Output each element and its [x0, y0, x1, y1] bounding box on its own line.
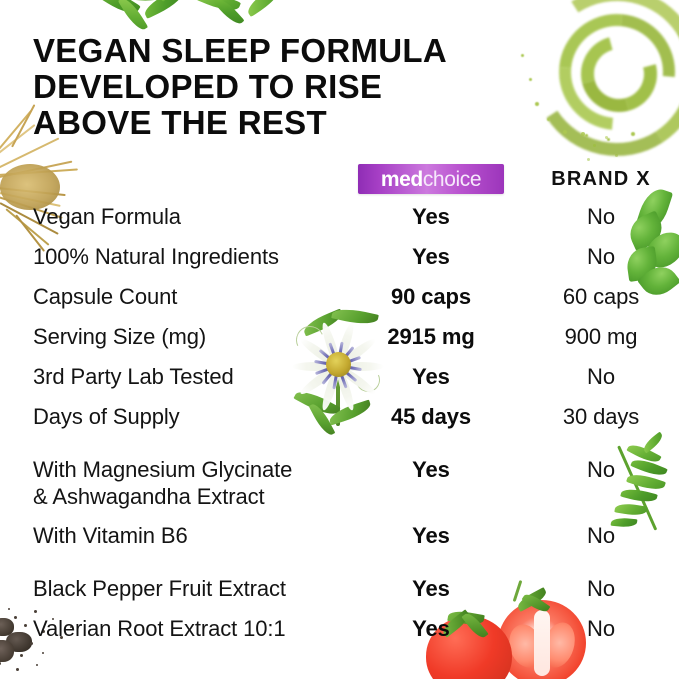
comparison-infographic: VEGAN SLEEP FORMULA DEVELOPED TO RISE AB…	[0, 0, 679, 679]
medchoice-brand-logo: medchoice	[358, 164, 504, 194]
row-value-medchoice: Yes	[345, 243, 517, 270]
row-label: 3rd Party Lab Tested	[33, 363, 234, 390]
row-label: Black Pepper Fruit Extract	[33, 575, 286, 602]
table-row: Days of Supply 45 days 30 days	[0, 403, 679, 443]
row-value-medchoice: Yes	[345, 615, 517, 642]
comparison-table: medchoice BRAND X Vegan Formula Yes No 1…	[0, 155, 679, 655]
brandx-column-header: BRAND X	[530, 168, 672, 191]
row-label: With Magnesium Glycinate & Ashwagandha E…	[33, 456, 292, 510]
row-value-brandx: No	[530, 363, 672, 390]
headline-line-3: ABOVE THE REST	[33, 105, 573, 141]
row-label: Vegan Formula	[33, 203, 181, 230]
row-value-brandx: No	[530, 203, 672, 230]
row-label: Valerian Root Extract 10:1	[33, 615, 286, 642]
table-row: 3rd Party Lab Tested Yes No	[0, 363, 679, 403]
row-value-brandx: 60 caps	[530, 283, 672, 310]
headline-line-1: VEGAN SLEEP FORMULA	[33, 33, 573, 69]
green-leaf-sprig-right-image	[186, 0, 306, 34]
table-row: Valerian Root Extract 10:1 Yes No	[0, 615, 679, 655]
row-value-medchoice: Yes	[345, 456, 517, 483]
row-label: 100% Natural Ingredients	[33, 243, 279, 270]
table-row: 100% Natural Ingredients Yes No	[0, 243, 679, 283]
row-label: Days of Supply	[33, 403, 180, 430]
table-row: With Vitamin B6 Yes No	[0, 522, 679, 562]
row-value-medchoice: 2915 mg	[345, 323, 517, 350]
row-value-brandx: 30 days	[530, 403, 672, 430]
row-value-medchoice: Yes	[345, 522, 517, 549]
row-value-medchoice: Yes	[345, 363, 517, 390]
logo-med-text: med	[381, 168, 423, 191]
logo-choice-text: choice	[423, 168, 481, 191]
row-value-medchoice: Yes	[345, 203, 517, 230]
row-value-medchoice: 90 caps	[345, 283, 517, 310]
table-row: Vegan Formula Yes No	[0, 203, 679, 243]
row-value-brandx: No	[530, 243, 672, 270]
row-value-brandx: No	[530, 522, 672, 549]
table-row: With Magnesium Glycinate & Ashwagandha E…	[0, 456, 679, 522]
row-value-brandx: No	[530, 575, 672, 602]
page-title: VEGAN SLEEP FORMULA DEVELOPED TO RISE AB…	[33, 33, 573, 141]
row-value-brandx: 900 mg	[530, 323, 672, 350]
table-row: Serving Size (mg) 2915 mg 900 mg	[0, 323, 679, 363]
table-row: Black Pepper Fruit Extract Yes No	[0, 575, 679, 615]
row-label: Capsule Count	[33, 283, 177, 310]
row-value-medchoice: Yes	[345, 575, 517, 602]
row-value-brandx: No	[530, 615, 672, 642]
headline-line-2: DEVELOPED TO RISE	[33, 69, 573, 105]
row-label: With Vitamin B6	[33, 522, 188, 549]
row-label: Serving Size (mg)	[33, 323, 206, 350]
row-value-medchoice: 45 days	[345, 403, 517, 430]
table-row: Capsule Count 90 caps 60 caps	[0, 283, 679, 323]
table-header-row: medchoice BRAND X	[0, 155, 679, 203]
row-value-brandx: No	[530, 456, 672, 483]
